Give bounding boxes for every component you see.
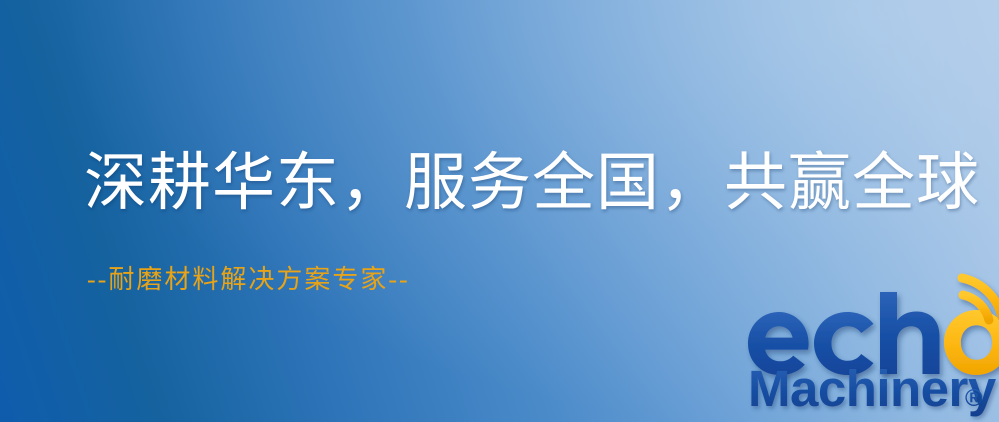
banner-content: 深耕华东，服务全国，共赢全球 --耐磨材料解决方案专家-- xyxy=(0,0,999,422)
banner-headline: 深耕华东，服务全国，共赢全球 xyxy=(84,152,980,215)
logo-company-name: Machinery ® xyxy=(748,362,998,422)
logo-trademark-symbol: ® xyxy=(965,385,983,412)
promo-banner: 深耕华东，服务全国，共赢全球 --耐磨材料解决方案专家-- xyxy=(0,0,999,422)
echo-machinery-logo[interactable]: Machinery ® xyxy=(744,292,999,422)
banner-subtitle: --耐磨材料解决方案专家-- xyxy=(87,266,410,295)
logo-company-name-text: Machinery xyxy=(748,360,997,417)
